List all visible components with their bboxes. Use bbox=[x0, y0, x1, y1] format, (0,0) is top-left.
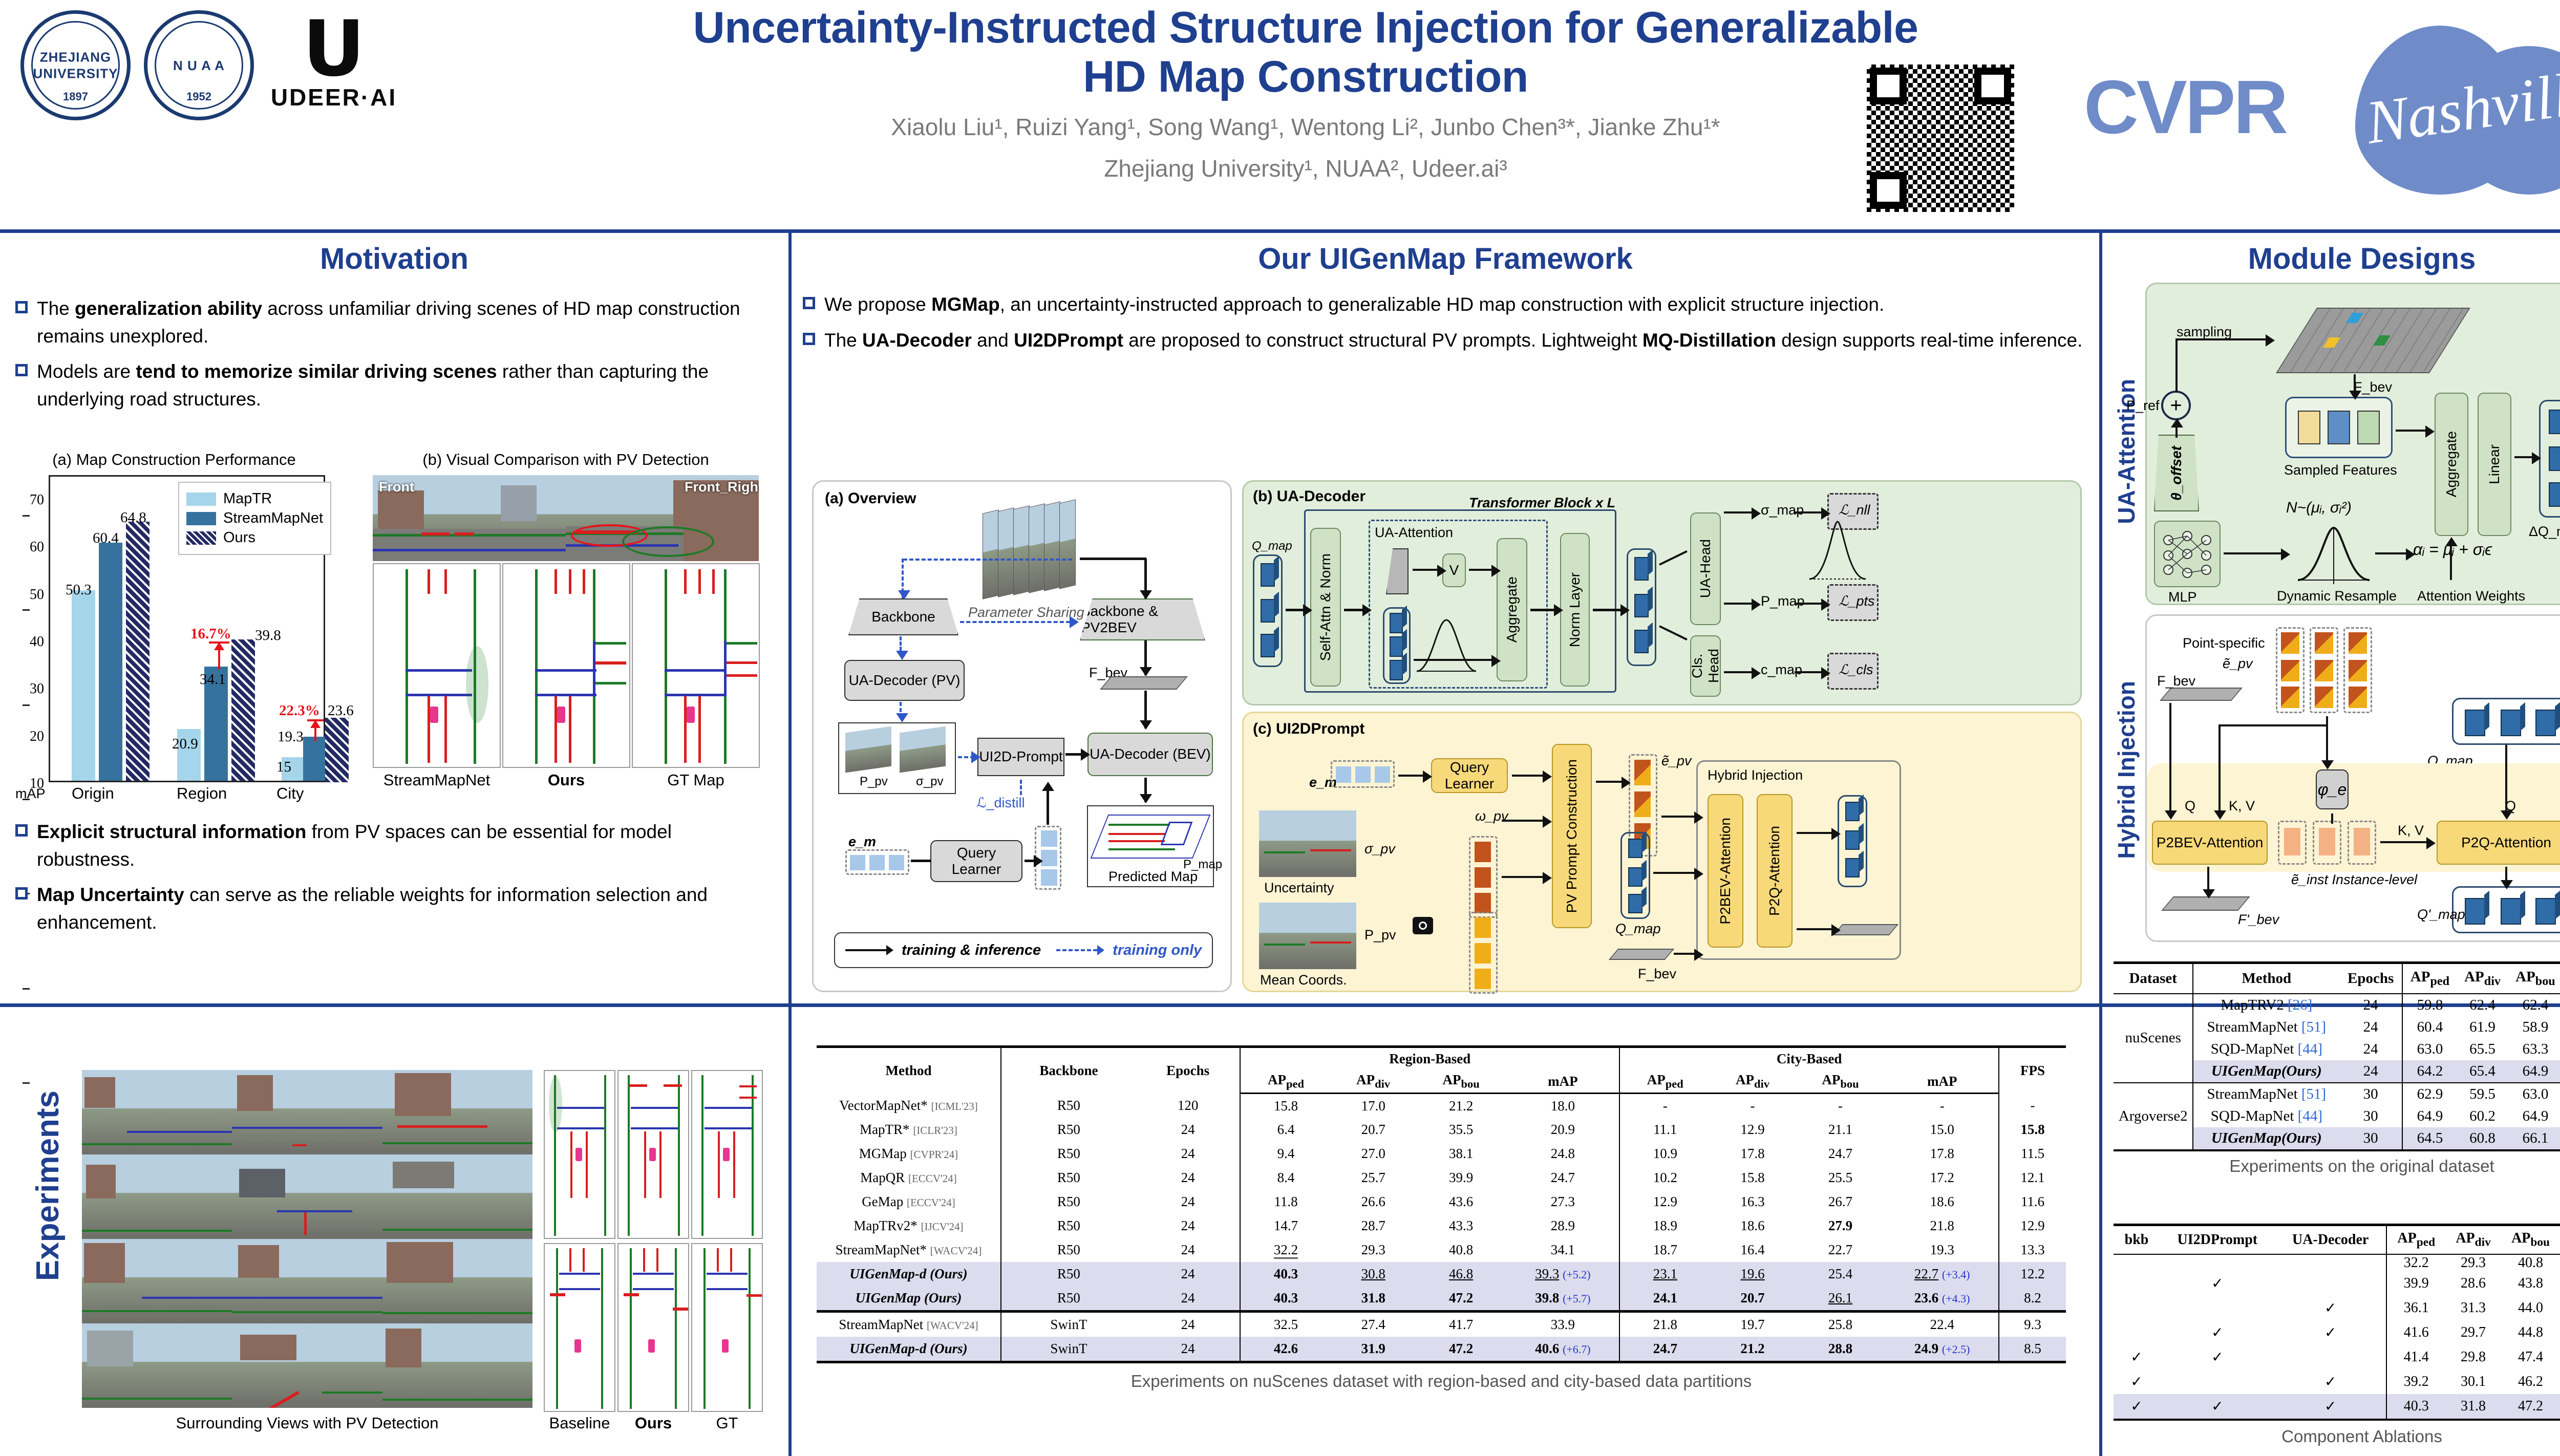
qr-code[interactable] bbox=[1864, 61, 2017, 215]
cell-fps: 13.3 bbox=[1999, 1238, 2066, 1262]
cell-val: 58.9 bbox=[2508, 1016, 2560, 1038]
cell-val: 26.1 bbox=[1795, 1286, 1886, 1312]
cell-check-bkb bbox=[2114, 1254, 2160, 1271]
bullet-text: Map Uncertainty can serve as the reliabl… bbox=[37, 881, 773, 936]
node-phi-e: φ_e bbox=[2316, 769, 2349, 809]
cell-backbone: R50 bbox=[1001, 1238, 1136, 1262]
cell-val: 6.4 bbox=[1240, 1118, 1331, 1142]
cell-val: 24.7 bbox=[1507, 1166, 1620, 1190]
label-p-pv: P_pv bbox=[860, 775, 888, 789]
cell-val: 62.4 bbox=[2508, 994, 2560, 1016]
cell-val: 60.8 bbox=[2457, 1127, 2508, 1149]
label-ua-attention-inner: UA-Attention bbox=[1375, 525, 1453, 541]
cell-check-uadecoder: ✓ bbox=[2275, 1394, 2386, 1419]
camera-icon bbox=[1413, 917, 1433, 934]
sigma-token-group bbox=[1383, 607, 1411, 684]
mean-coords-photo bbox=[1259, 903, 1356, 969]
bullet-text: We propose MGMap, an uncertainty-instruc… bbox=[824, 291, 2083, 318]
label-sigma-pv: σ_pv bbox=[916, 775, 944, 789]
col-dataset: Dataset bbox=[2114, 963, 2193, 994]
label-c-map: c_map bbox=[1761, 662, 1802, 678]
cell-val: 47.2 bbox=[1416, 1286, 1507, 1312]
bullet-square-icon bbox=[15, 364, 28, 376]
col-region-ap-div: APdiv bbox=[1331, 1070, 1416, 1094]
label-p-pv-c: P_pv bbox=[1364, 927, 1396, 943]
cell-val: 40.8 bbox=[1416, 1238, 1507, 1262]
node-mlp bbox=[2154, 521, 2221, 587]
label-epv-tilde: ẽ_pv bbox=[1661, 753, 1692, 769]
cell-val: 21.8 bbox=[1886, 1214, 1999, 1238]
figure-b-caption: (b) Visual Comparison with PV Detection bbox=[353, 451, 778, 469]
label-attention-weights: Attention Weights bbox=[2417, 588, 2525, 604]
cell-val: 47.2 bbox=[1416, 1337, 1507, 1361]
cell-val: 24.7 bbox=[1619, 1337, 1710, 1361]
x-tick-city: City bbox=[276, 784, 304, 803]
cell-val: 32.5 bbox=[1240, 1311, 1331, 1337]
exp-map-gt-row2 bbox=[691, 1243, 763, 1412]
main-results-table: Method Backbone Epochs Region-Based City… bbox=[817, 1045, 2066, 1361]
bar-ours-region bbox=[231, 639, 255, 781]
label-omega-pv: ω_pv bbox=[1475, 808, 1508, 824]
table-row: ✓✓41.429.847.439.5 bbox=[2114, 1345, 2560, 1369]
cell-val: 19.7 bbox=[1710, 1311, 1795, 1337]
cell-method: SQD-MapNet [44] bbox=[2193, 1105, 2339, 1127]
cell-method: MapQR [ECCV'24] bbox=[817, 1166, 1001, 1190]
surround-view-cell bbox=[232, 1154, 382, 1239]
y-tick-30: 30 bbox=[30, 681, 50, 697]
ablation-table: bkb UI2DPrompt UA-Decoder APped APdiv AP… bbox=[2114, 1224, 2560, 1419]
cell-check-ui2dprompt: ✓ bbox=[2160, 1345, 2275, 1369]
label-l-distill: ℒ_distill bbox=[976, 795, 1025, 811]
table-row: ✓39.928.643.837.4 bbox=[2114, 1271, 2560, 1296]
label-mean-coords: Mean Coords. bbox=[1260, 972, 1347, 988]
label-p-map-b: P_map bbox=[1761, 593, 1805, 609]
table-row-highlight: UIGenMap-d (Ours)SwinT2442.631.947.240.6… bbox=[817, 1337, 2066, 1361]
node-theta-offset: θ_offset bbox=[2154, 435, 2199, 511]
nuaa-logo-text: N U A A bbox=[147, 57, 250, 74]
cell-val: 25.5 bbox=[1795, 1166, 1886, 1190]
table-row-highlight: UIGenMap-d (Ours)R502440.330.846.839.3 (… bbox=[817, 1262, 2066, 1286]
cell-fps: 9.3 bbox=[1999, 1311, 2066, 1337]
cell-val: 28.8 bbox=[1795, 1337, 1886, 1361]
cell-val: 14.7 bbox=[1240, 1214, 1331, 1238]
surround-view-cell bbox=[382, 1070, 532, 1154]
col-city-map: mAP bbox=[1886, 1070, 1999, 1094]
surround-view-cell bbox=[232, 1323, 382, 1408]
cell-val: 39.8 (+5.7) bbox=[1507, 1286, 1620, 1312]
col-city-ap-ped: APped bbox=[1619, 1070, 1710, 1094]
pv-label-front: Front bbox=[379, 479, 414, 495]
legend-row: StreamMapNet bbox=[186, 510, 323, 527]
cell-check-uadecoder: ✓ bbox=[2275, 1369, 2386, 1394]
cell-method: UIGenMap(Ours) bbox=[2193, 1127, 2339, 1149]
cell-val: 20.9 bbox=[1507, 1118, 1620, 1142]
legend-row: MapTR bbox=[186, 490, 323, 507]
cell-val: 29.8 bbox=[2446, 1345, 2501, 1369]
cell-method: UIGenMap-d (Ours) bbox=[817, 1337, 1001, 1361]
cell-val: 9.4 bbox=[1240, 1142, 1331, 1166]
surrounding-views-grid bbox=[82, 1070, 532, 1408]
node-p2bev-attention: P2BEV-Attention bbox=[2152, 821, 2268, 865]
exp-map-ours-row1 bbox=[617, 1070, 689, 1239]
y-tick-40: 40 bbox=[30, 634, 50, 650]
cell-fps: 11.6 bbox=[1999, 1190, 2066, 1214]
cell-method: UIGenMap-d (Ours) bbox=[817, 1262, 1001, 1286]
label-uncertainty: Uncertainty bbox=[1264, 880, 1334, 896]
legend-swatch-streammapnet bbox=[186, 512, 216, 525]
fbev-plate-hi bbox=[2160, 688, 2243, 701]
cell-val: 16.3 bbox=[1710, 1190, 1795, 1214]
udeer-u-icon: U bbox=[303, 19, 365, 79]
em-token-group-c bbox=[1331, 760, 1395, 788]
label-l-pts: ℒ_pts bbox=[1839, 593, 1874, 609]
surround-view-cell bbox=[82, 1154, 232, 1239]
cell-val: 17.2 bbox=[1886, 1166, 1999, 1190]
author-list: Xiaolu Liu¹, Ruizi Yang¹, Song Wang¹, We… bbox=[660, 111, 1951, 143]
cell-val: 26.7 bbox=[1795, 1190, 1886, 1214]
cell-val: 64.5 bbox=[2402, 1127, 2457, 1149]
map-cell-gt bbox=[632, 563, 760, 768]
cell-val: 10.9 bbox=[1619, 1142, 1710, 1166]
table-row: StreamMapNet [WACV'24]SwinT2432.527.441.… bbox=[817, 1311, 2066, 1337]
cell-val: 25.4 bbox=[1795, 1262, 1886, 1286]
zju-logo-text: ZHEJIANG UNIVERSITY bbox=[24, 49, 127, 82]
cell-check-bkb: ✓ bbox=[2114, 1369, 2160, 1394]
node-self-attn-norm: Self-Attn & Norm bbox=[1310, 528, 1341, 687]
cell-check-uadecoder: ✓ bbox=[2275, 1320, 2386, 1345]
table-row: MGMap [CVPR'24]R50249.427.038.124.810.91… bbox=[817, 1142, 2066, 1166]
fbev-plate-icon bbox=[1100, 676, 1188, 690]
uncertainty-photo bbox=[1259, 810, 1356, 877]
cell-val: 18.9 bbox=[1619, 1214, 1710, 1238]
col-ap-ped: APped bbox=[2402, 963, 2457, 994]
node-cls-head: Cls. Head bbox=[1690, 635, 1721, 697]
cell-check-bkb bbox=[2114, 1271, 2160, 1296]
cell-val: 10.2 bbox=[1619, 1166, 1710, 1190]
cell-method: MapTR* [ICLR'23] bbox=[817, 1118, 1001, 1142]
cell-val: 18.7 bbox=[1619, 1238, 1710, 1262]
node-aggregate-b: Aggregate bbox=[1497, 538, 1527, 681]
sigma-prompt-tokens bbox=[1469, 836, 1498, 918]
cell-val: 17.8 bbox=[1710, 1142, 1795, 1166]
node-query-learner-c: Query Learner bbox=[1431, 758, 1508, 793]
col-group-city: City-Based bbox=[1619, 1047, 1999, 1070]
nuaa-logo: N U A A 1952 bbox=[144, 10, 254, 120]
figure-b: (b) Visual Comparison with PV Detection bbox=[353, 451, 778, 469]
label-transformer-block: Transformer Block x L bbox=[1469, 495, 1615, 511]
poster-title-line2: HD Map Construction bbox=[660, 52, 1951, 101]
cell-val: 40.8 bbox=[2501, 1254, 2560, 1271]
exp-map-caption-gt: GT bbox=[691, 1414, 763, 1432]
col-region-map: mAP bbox=[1507, 1070, 1620, 1094]
col-ap-div-abl: APdiv bbox=[2446, 1225, 2501, 1254]
table-row: MapTR* [ICLR'23]R50246.420.735.520.911.1… bbox=[817, 1118, 2066, 1142]
cell-val: 27.3 bbox=[1507, 1190, 1620, 1214]
bar-value: 64.8 bbox=[120, 509, 146, 526]
cell-check-ui2dprompt bbox=[2160, 1369, 2275, 1394]
output-tokens-c bbox=[1838, 795, 1867, 887]
map-cell-ours bbox=[502, 563, 630, 768]
cell-val: 17.0 bbox=[1331, 1094, 1416, 1118]
cell-val: - bbox=[1710, 1094, 1795, 1118]
cell-val: 28.9 bbox=[1507, 1214, 1620, 1238]
cell-val: 24.1 bbox=[1619, 1286, 1710, 1312]
overview-tag: (a) Overview bbox=[825, 490, 916, 507]
output-token-group-b bbox=[1627, 548, 1656, 666]
ua-decoder-tag: (b) UA-Decoder bbox=[1253, 488, 1366, 505]
cell-method: StreamMapNet* [WACV'24] bbox=[817, 1238, 1001, 1262]
cell-backbone: R50 bbox=[1001, 1286, 1136, 1312]
cell-val: 43.8 bbox=[2501, 1271, 2560, 1296]
cell-val: 32.2 bbox=[2386, 1254, 2446, 1271]
legend-label: Ours bbox=[223, 529, 255, 546]
ui2dprompt-tag: (c) UI2DPrompt bbox=[1253, 720, 1364, 738]
col-city-ap-div: APdiv bbox=[1710, 1070, 1795, 1094]
col-region-ap-ped: APped bbox=[1240, 1070, 1331, 1094]
cell-method: VectorMapNet* [ICML'23] bbox=[817, 1094, 1001, 1118]
cell-epochs: 30 bbox=[2339, 1083, 2402, 1105]
col-epochs: Epochs bbox=[2339, 963, 2402, 994]
label-einst: ẽ_inst Instance-level bbox=[2291, 872, 2417, 888]
table-header-row: bkb UI2DPrompt UA-Decoder APped APdiv AP… bbox=[2114, 1225, 2560, 1254]
cell-val: 65.4 bbox=[2457, 1060, 2508, 1083]
cell-epochs: 24 bbox=[1136, 1166, 1240, 1190]
cell-val: 28.7 bbox=[1331, 1214, 1416, 1238]
y-tick-20: 20 bbox=[30, 729, 50, 745]
bar-value: 19.3 bbox=[278, 729, 304, 745]
cell-val: 18.0 bbox=[1507, 1094, 1620, 1118]
table-row: ✓✓41.629.744.838.7 bbox=[2114, 1320, 2560, 1345]
label-sampled-features: Sampled Features bbox=[2284, 462, 2397, 478]
output-plate-c bbox=[1833, 924, 1898, 935]
qmap-token-group-b bbox=[1253, 554, 1283, 667]
motivation-section: Motivation bbox=[0, 242, 788, 276]
cell-epochs: 24 bbox=[1136, 1262, 1240, 1286]
cell-check-ui2dprompt bbox=[2160, 1254, 2275, 1271]
em-token-group bbox=[845, 849, 909, 875]
node-norm-layer: Norm Layer bbox=[1560, 533, 1590, 687]
bev-grid-icon bbox=[2276, 308, 2470, 373]
exp-map-caption-ours: Ours bbox=[617, 1414, 689, 1432]
cell-val: 64.9 bbox=[2508, 1060, 2560, 1083]
cell-val: 8.4 bbox=[1240, 1166, 1331, 1190]
cell-check-bkb: ✓ bbox=[2114, 1394, 2160, 1419]
overview-legend: training & inference training only bbox=[834, 932, 1213, 968]
label-l-cls: ℒ_cls bbox=[1839, 662, 1873, 678]
table-row: StreamMapNet* [WACV'24]R502432.229.340.8… bbox=[817, 1238, 2066, 1262]
cell-epochs: 24 bbox=[1136, 1118, 1240, 1142]
x-tick-region: Region bbox=[177, 784, 227, 803]
table-row: GeMap [ECCV'24]R502411.826.643.627.312.9… bbox=[817, 1190, 2066, 1214]
bar-value: 23.6 bbox=[328, 702, 354, 719]
cell-val: 18.6 bbox=[1886, 1190, 1999, 1214]
cell-val: 32.2 bbox=[1240, 1238, 1331, 1262]
cell-val: 19.3 bbox=[1886, 1238, 1999, 1262]
cell-val: 23.1 bbox=[1619, 1262, 1710, 1286]
bullet-item: We propose MGMap, an uncertainty-instruc… bbox=[803, 291, 2083, 318]
cell-val: 15.0 bbox=[1886, 1118, 1999, 1142]
distribution-curve-icon bbox=[1807, 512, 1868, 584]
bar-value: 60.4 bbox=[93, 530, 119, 547]
bar-streammapnet-city bbox=[303, 737, 327, 781]
orig-table-caption: Experiments on the original dataset bbox=[2114, 1157, 2560, 1176]
cell-val: 12.9 bbox=[1619, 1190, 1710, 1214]
chart-a: (a) Map Construction Performance bbox=[15, 451, 333, 469]
column-divider-4 bbox=[2099, 1007, 2102, 1456]
cell-val: 44.8 bbox=[2501, 1320, 2560, 1345]
cell-dataset-argoverse2: Argoverse2 bbox=[2114, 1083, 2193, 1149]
cell-val: 17.8 bbox=[1886, 1142, 1999, 1166]
cell-method: GeMap [ECCV'24] bbox=[817, 1190, 1001, 1214]
col-method-main: Method bbox=[817, 1047, 1001, 1094]
fbev-prime-plate bbox=[2161, 896, 2250, 911]
cell-val: 46.8 bbox=[1416, 1262, 1507, 1286]
bar-streammapnet-origin bbox=[99, 543, 122, 781]
cell-fps: 12.2 bbox=[1999, 1262, 2066, 1286]
cell-val: 26.6 bbox=[1331, 1190, 1416, 1214]
udeer-logo: U UDEER·AI bbox=[267, 19, 400, 111]
cell-val: 60.4 bbox=[2402, 1016, 2457, 1038]
main-table-body: VectorMapNet* [ICML'23]R5012015.817.021.… bbox=[817, 1094, 2066, 1361]
node-ua-head: UA-Head bbox=[1690, 512, 1721, 625]
orig-dataset-table: Dataset Method Epochs APped APdiv APbou … bbox=[2114, 961, 2560, 1149]
cell-val: 39.9 bbox=[2386, 1271, 2446, 1296]
cell-epochs: 24 bbox=[1136, 1337, 1240, 1361]
cell-val: 60.2 bbox=[2457, 1105, 2508, 1127]
label-f-bev-c: F_bev bbox=[1638, 966, 1676, 982]
framework-bullets: We propose MGMap, an uncertainty-instruc… bbox=[803, 291, 2083, 362]
bar-value: 34.1 bbox=[200, 671, 226, 688]
cell-method: MapTRV2 [26] bbox=[2193, 994, 2339, 1016]
table-row: MapTRv2* [IJCV'24]R502414.728.743.328.91… bbox=[817, 1214, 2066, 1238]
cell-val: 31.8 bbox=[2446, 1394, 2501, 1419]
delta-qmap-tokens bbox=[2539, 400, 2560, 518]
cell-val: 28.6 bbox=[2446, 1271, 2501, 1296]
legend-label: StreamMapNet bbox=[223, 510, 323, 527]
exp-map-ours-row2 bbox=[617, 1243, 689, 1412]
sampled-features-box bbox=[2285, 397, 2393, 458]
cell-val: 21.2 bbox=[1416, 1094, 1507, 1118]
col-group-region: Region-Based bbox=[1240, 1047, 1619, 1070]
table-row: MapQR [ECCV'24]R50248.425.739.924.710.21… bbox=[817, 1166, 2066, 1190]
col-fps: FPS bbox=[1999, 1047, 2066, 1094]
cell-val: 31.9 bbox=[1331, 1337, 1416, 1361]
cell-val: 63.0 bbox=[2508, 1083, 2560, 1105]
cell-val: 20.7 bbox=[1710, 1286, 1795, 1312]
bullet-text: Models are tend to memorize similar driv… bbox=[37, 358, 773, 413]
cell-val: 29.7 bbox=[2446, 1320, 2501, 1345]
cell-val: 47.2 bbox=[2501, 1394, 2560, 1419]
framework-title: Our UIGenMap Framework bbox=[792, 242, 2099, 276]
cell-fps: 12.1 bbox=[1999, 1166, 2066, 1190]
table-row-highlight: UIGenMap (Ours)R502440.331.847.239.8 (+5… bbox=[817, 1286, 2066, 1312]
cell-val: 33.9 bbox=[1507, 1311, 1620, 1337]
motivation-bullets-top: The generalization ability across unfami… bbox=[15, 295, 773, 421]
poster-root: ZHEJIANG UNIVERSITY 1897 N U A A 1952 U … bbox=[0, 0, 2560, 1456]
cell-val: 21.8 bbox=[1619, 1311, 1710, 1337]
mlp-network-icon bbox=[2159, 526, 2215, 582]
cell-check-bkb bbox=[2114, 1296, 2160, 1320]
cell-check-ui2dprompt: ✓ bbox=[2160, 1394, 2275, 1419]
cell-epochs: 24 bbox=[2339, 994, 2402, 1016]
cell-val: 42.6 bbox=[1240, 1337, 1331, 1361]
exp-map-baseline-row2 bbox=[544, 1243, 615, 1412]
cell-val: 66.1 bbox=[2508, 1127, 2560, 1149]
cell-val: 29.3 bbox=[2446, 1254, 2501, 1271]
node-p2bev-attention-c: P2BEV-Attention bbox=[1708, 794, 1743, 948]
poster-title-line1: Uncertainty-Instructed Structure Injecti… bbox=[660, 3, 1951, 52]
cell-epochs: 24 bbox=[2339, 1060, 2402, 1083]
bar-ours-city-overflow bbox=[325, 718, 349, 782]
cell-val: 39.2 bbox=[2386, 1369, 2446, 1394]
y-tick-50: 50 bbox=[30, 587, 50, 603]
legend-label: MapTR bbox=[223, 490, 272, 507]
cell-val: 22.4 bbox=[1886, 1311, 1999, 1337]
y-tick-70: 70 bbox=[30, 492, 50, 508]
gain-label-region: 16.7% bbox=[190, 626, 231, 643]
cvpr-wordmark: CVPR bbox=[2084, 64, 2286, 151]
bullet-text: The generalization ability across unfami… bbox=[37, 295, 773, 350]
label-sigma-map: σ_map bbox=[1761, 502, 1804, 518]
surrounding-views-caption: Surrounding Views with PV Detection bbox=[82, 1414, 532, 1432]
bar-ours-origin bbox=[126, 522, 150, 781]
poster-header: ZHEJIANG UNIVERSITY 1897 N U A A 1952 U … bbox=[0, 0, 2560, 231]
cell-val: 27.4 bbox=[1331, 1311, 1416, 1337]
cell-check-bkb bbox=[2114, 1320, 2160, 1345]
y-tick-60: 60 bbox=[30, 539, 50, 555]
bullet-item: The UA-Decoder and UI2DPrompt are propos… bbox=[803, 327, 2083, 354]
surround-view-cell bbox=[382, 1154, 532, 1239]
node-backbone-pv2bev: Backbone & PV2BEV bbox=[1080, 598, 1205, 640]
node-query-learner: Query Learner bbox=[930, 840, 1022, 882]
node-ua-decoder-bev: UA-Decoder (BEV) bbox=[1087, 733, 1213, 776]
cell-val: 43.3 bbox=[1416, 1214, 1507, 1238]
label-delta-q-map: ΔQ_map bbox=[2529, 524, 2560, 540]
label-point-specific: Point-specific bbox=[2183, 635, 2265, 651]
cell-check-uadecoder bbox=[2275, 1271, 2386, 1296]
exp-map-gt-row1 bbox=[691, 1070, 763, 1239]
cell-val: 20.7 bbox=[1331, 1118, 1416, 1142]
orig-dataset-table-wrapper: Dataset Method Epochs APped APdiv APbou … bbox=[2114, 961, 2560, 1176]
cell-method: MapTRv2* [IJCV'24] bbox=[817, 1214, 1001, 1238]
cell-val: 62.9 bbox=[2402, 1083, 2457, 1105]
ua-attention-panel: sampling F_bev + P_ref θ_offset MLP Samp… bbox=[2145, 283, 2560, 605]
bullet-text: The UA-Decoder and UI2DPrompt are propos… bbox=[824, 327, 2083, 354]
cell-check-uadecoder bbox=[2275, 1254, 2386, 1271]
node-ui2d-prompt: UI2D-Prompt bbox=[977, 738, 1064, 776]
cell-backbone: R50 bbox=[1001, 1166, 1136, 1190]
map-cell-streammapnet bbox=[373, 563, 501, 768]
cell-val: 41.4 bbox=[2386, 1345, 2446, 1369]
motivation-title: Motivation bbox=[0, 242, 788, 276]
bar-value: 20.9 bbox=[172, 736, 198, 753]
cell-epochs: 24 bbox=[2339, 1016, 2402, 1038]
cell-backbone: SwinT bbox=[1001, 1311, 1136, 1337]
cell-val: 31.3 bbox=[2446, 1296, 2501, 1320]
einst-token-group bbox=[2278, 821, 2380, 865]
map-caption-streammapnet: StreamMapNet bbox=[373, 771, 501, 789]
table-row: ✓✓39.230.146.238.5 bbox=[2114, 1369, 2560, 1394]
cell-val: 35.5 bbox=[1416, 1118, 1507, 1142]
cell-fps: 15.8 bbox=[1999, 1118, 2066, 1142]
cell-val: 59.5 bbox=[2457, 1083, 2508, 1105]
label-dynamic-resample: Dynamic Resample bbox=[2277, 588, 2397, 604]
bar-value: 50.3 bbox=[66, 582, 92, 598]
cell-val: 36.1 bbox=[2386, 1296, 2446, 1320]
node-ua-decoder-pv: UA-Decoder (PV) bbox=[844, 660, 965, 701]
map-caption-gt: GT Map bbox=[632, 771, 760, 789]
main-table-caption: Experiments on nuScenes dataset with reg… bbox=[817, 1372, 2066, 1391]
